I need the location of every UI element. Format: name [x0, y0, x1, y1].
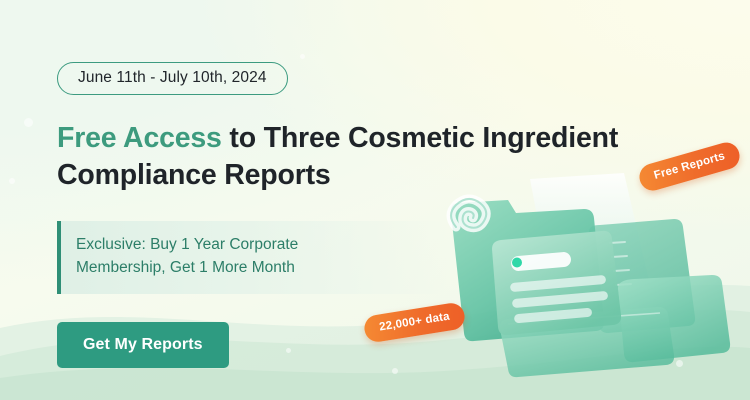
folder-stack-graphic — [412, 167, 742, 382]
promo-date-pill: June 11th - July 10th, 2024 — [57, 62, 288, 95]
exclusive-offer-line-2: Membership, Get 1 More Month — [76, 257, 431, 280]
document-card — [492, 231, 621, 335]
folders-illustration: Free Reports 22,000+ data — [412, 167, 742, 382]
exclusive-offer-box: Exclusive: Buy 1 Year Corporate Membersh… — [57, 221, 447, 294]
exclusive-offer-line-1: Exclusive: Buy 1 Year Corporate — [76, 234, 431, 257]
promo-banner: June 11th - July 10th, 2024 Free Access … — [0, 0, 750, 400]
headline-highlight: Free Access — [57, 122, 222, 154]
get-my-reports-button[interactable]: Get My Reports — [57, 322, 229, 368]
